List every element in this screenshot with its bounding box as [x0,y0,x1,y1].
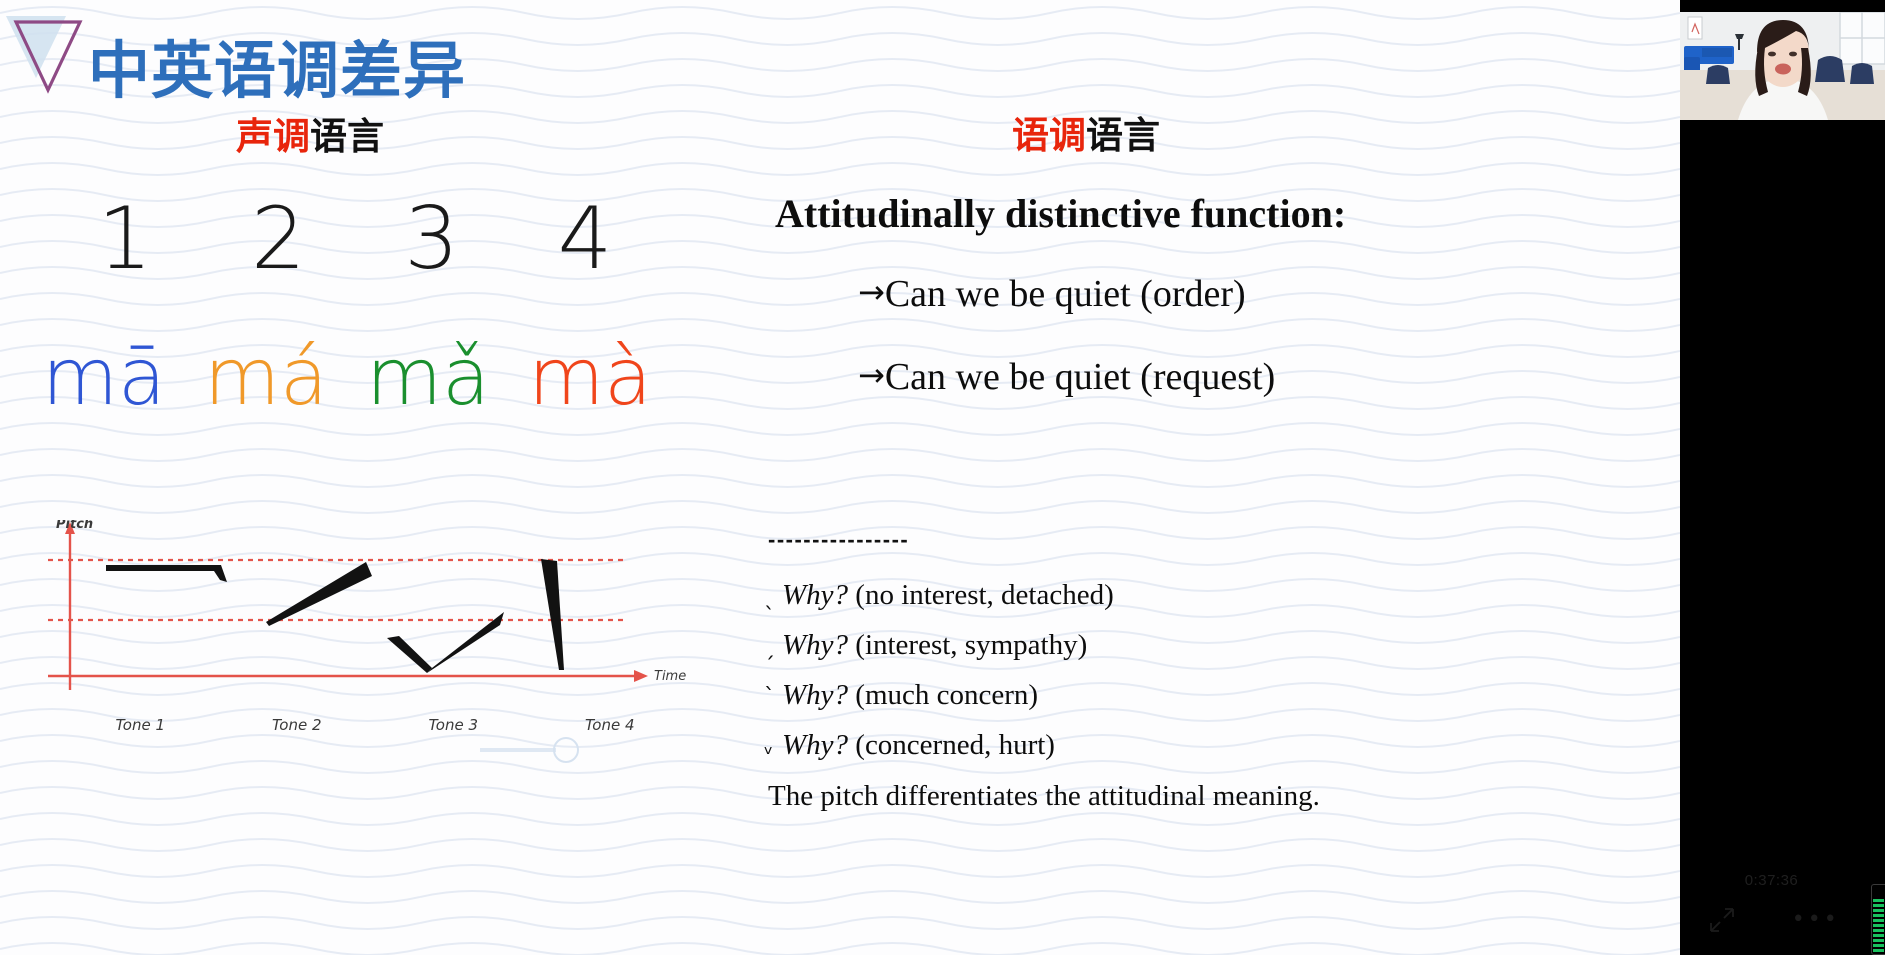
chart-tone-label: Tone 3 [375,716,532,734]
left-heading-highlight: 声调 [236,114,310,158]
chart-x-axis-label: Time [654,669,686,684]
pinyin-syllable: mǎ [366,332,490,426]
example-line: →Can we be quiet (request) [858,355,1275,399]
webcam-image [1680,12,1885,120]
chart-tone-label: Tone 4 [532,716,689,734]
why-word: Why? [782,579,848,611]
chart-tone-label: Tone 2 [219,716,376,734]
summary-text: The pitch differentiates the attitudinal… [768,780,1320,813]
tone-number: 3 [367,196,497,282]
why-word: Why? [782,679,848,711]
page-title: 中英语调差异 [88,20,466,110]
left-heading-rest: 语言 [310,114,384,158]
tone-number: 4 [520,196,650,282]
elapsed-time: 0:37:36 [1680,872,1863,889]
video-controls-bar[interactable]: ••• [1680,905,1867,935]
why-gloss: (concerned, hurt) [855,729,1055,761]
chart-tone-label: Tone 1 [62,716,219,734]
why-list-item: ˋWhy? (much concern) [764,679,1038,712]
why-gloss: (no interest, detached) [855,579,1113,611]
more-options-icon[interactable]: ••• [1792,913,1840,926]
why-gloss: (interest, sympathy) [855,629,1087,661]
video-conference-panel[interactable]: 0:37:36 ••• [1680,0,1885,955]
right-heading-rest: 语言 [1086,113,1160,157]
arrow-right-icon: → [858,273,885,311]
pinyin-syllable: mà [528,332,652,426]
example-text: Can we be quiet (order) [885,273,1246,315]
right-heading-highlight: 语调 [1012,113,1086,157]
participant-video-tile[interactable] [1680,12,1885,120]
chart-tone-labels: Tone 1 Tone 2 Tone 3 Tone 4 [28,716,688,734]
tone-number: 2 [213,196,343,282]
right-column-heading: 语调语言 [1012,105,1160,159]
tone-pitch-contour-chart: Pitch Time [28,520,688,720]
example-text: Can we be quiet (request) [885,356,1275,398]
pinyin-syllable: mā [42,332,166,426]
why-list-item: ˎWhy? (no interest, detached) [764,579,1114,612]
expand-arrows-icon[interactable] [1707,905,1737,935]
decorative-circle [553,737,579,763]
pinyin-syllable: má [204,332,328,426]
triangle-logo-icon [4,4,88,98]
decorative-line [480,748,556,752]
section-title: Attitudinally distinctive function: [775,190,1346,237]
why-list-item: ᵥWhy? (concerned, hurt) [764,729,1055,762]
presentation-slide: 中英语调差异 声调语言 语调语言 1 2 3 4 mā má mǎ mà [0,0,1680,955]
tone-number: 1 [60,196,190,282]
example-line: →Can we be quiet (order) [858,272,1246,316]
tone-number-row: 1 2 3 4 [60,196,650,282]
why-gloss: (much concern) [855,679,1038,711]
arrow-right-icon: → [858,356,885,394]
why-list-item: ˏWhy? (interest, sympathy) [764,629,1087,662]
chart-y-axis-label: Pitch [56,520,93,532]
audio-level-meter [1871,884,1885,955]
tone-mark-icon: ˏ [764,635,782,660]
tone-mark-icon: ᵥ [764,735,782,760]
dashed-divider: ---------------- [768,527,909,553]
left-column-heading: 声调语言 [236,106,384,160]
why-word: Why? [782,729,848,761]
tone-mark-icon: ˋ [764,685,782,710]
why-word: Why? [782,629,848,661]
pinyin-syllable-row: mā má mǎ mà [42,332,652,426]
tone-mark-icon: ˎ [764,585,782,610]
